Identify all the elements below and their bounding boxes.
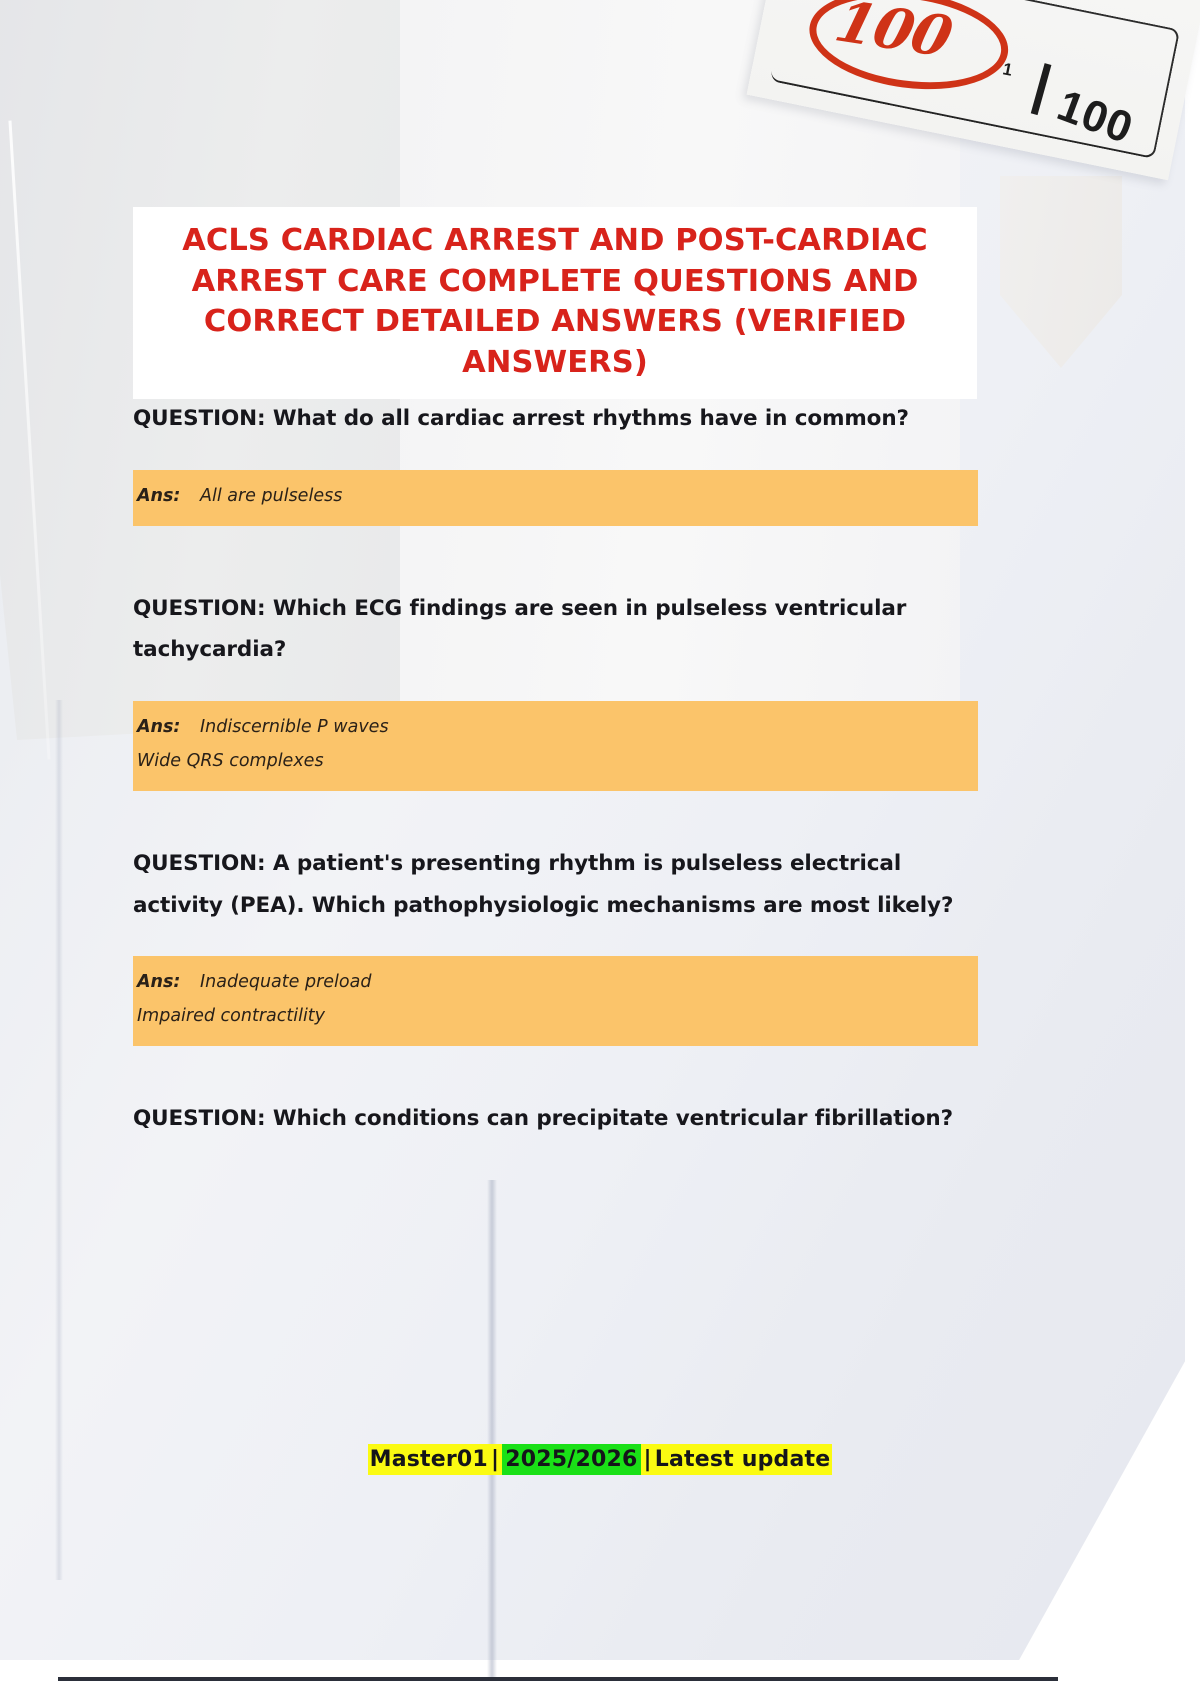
spacer [133, 1046, 978, 1098]
question-text: QUESTION: What do all cardiac arrest rhy… [133, 398, 978, 440]
answer-text: All are pulseless [200, 486, 342, 506]
qa-list: QUESTION: What do all cardiac arrest rhy… [133, 398, 978, 1140]
spacer [133, 440, 978, 470]
answer-label: Ans: [137, 717, 180, 737]
footer-separator-2: | [641, 1447, 655, 1472]
answer-text: Indiscernible P waves [200, 717, 389, 737]
answer-block: Ans: Indiscernible P waves Wide QRS comp… [133, 701, 978, 790]
footer-separator-1: | [488, 1447, 502, 1472]
question-text: QUESTION: A patient's presenting rhythm … [133, 843, 978, 927]
question-text: QUESTION: Which conditions can precipita… [133, 1098, 978, 1140]
footer-update: Latest update [655, 1447, 831, 1472]
answer-block: Ans: Inadequate preload Impaired contrac… [133, 956, 978, 1045]
spacer [133, 526, 978, 588]
answer-block: Ans: All are pulseless [133, 470, 978, 526]
document-title-box: ACLS CARDIAC ARREST AND POST-CARDIAC ARR… [133, 207, 977, 399]
page-title: ACLS CARDIAC ARREST AND POST-CARDIAC ARR… [161, 221, 949, 383]
answer-line: Impaired contractility [133, 1000, 978, 1034]
answer-line: Wide QRS complexes [133, 745, 978, 779]
document-page: 100 1 100 ACLS CARDIAC ARREST AND POST-C… [0, 0, 1200, 1700]
answer-line: Ans: Inadequate preload [133, 966, 978, 1000]
footer-year: 2025/2026 [502, 1444, 640, 1475]
footer-line: Master01|2025/2026|Latest update [368, 1444, 833, 1475]
answer-label: Ans: [137, 972, 180, 992]
answer-line: Ans: All are pulseless [133, 480, 978, 514]
document-content: ACLS CARDIAC ARREST AND POST-CARDIAC ARR… [0, 0, 1200, 1700]
spacer [133, 926, 978, 956]
spacer [133, 671, 978, 701]
answer-label: Ans: [137, 486, 180, 506]
footer-author: Master01 [370, 1447, 488, 1472]
spacer [133, 791, 978, 843]
question-text: QUESTION: Which ECG findings are seen in… [133, 588, 978, 672]
answer-text: Inadequate preload [200, 972, 371, 992]
footer: Master01|2025/2026|Latest update [0, 1444, 1200, 1475]
answer-line: Ans: Indiscernible P waves [133, 711, 978, 745]
bottom-rule [58, 1677, 1058, 1681]
